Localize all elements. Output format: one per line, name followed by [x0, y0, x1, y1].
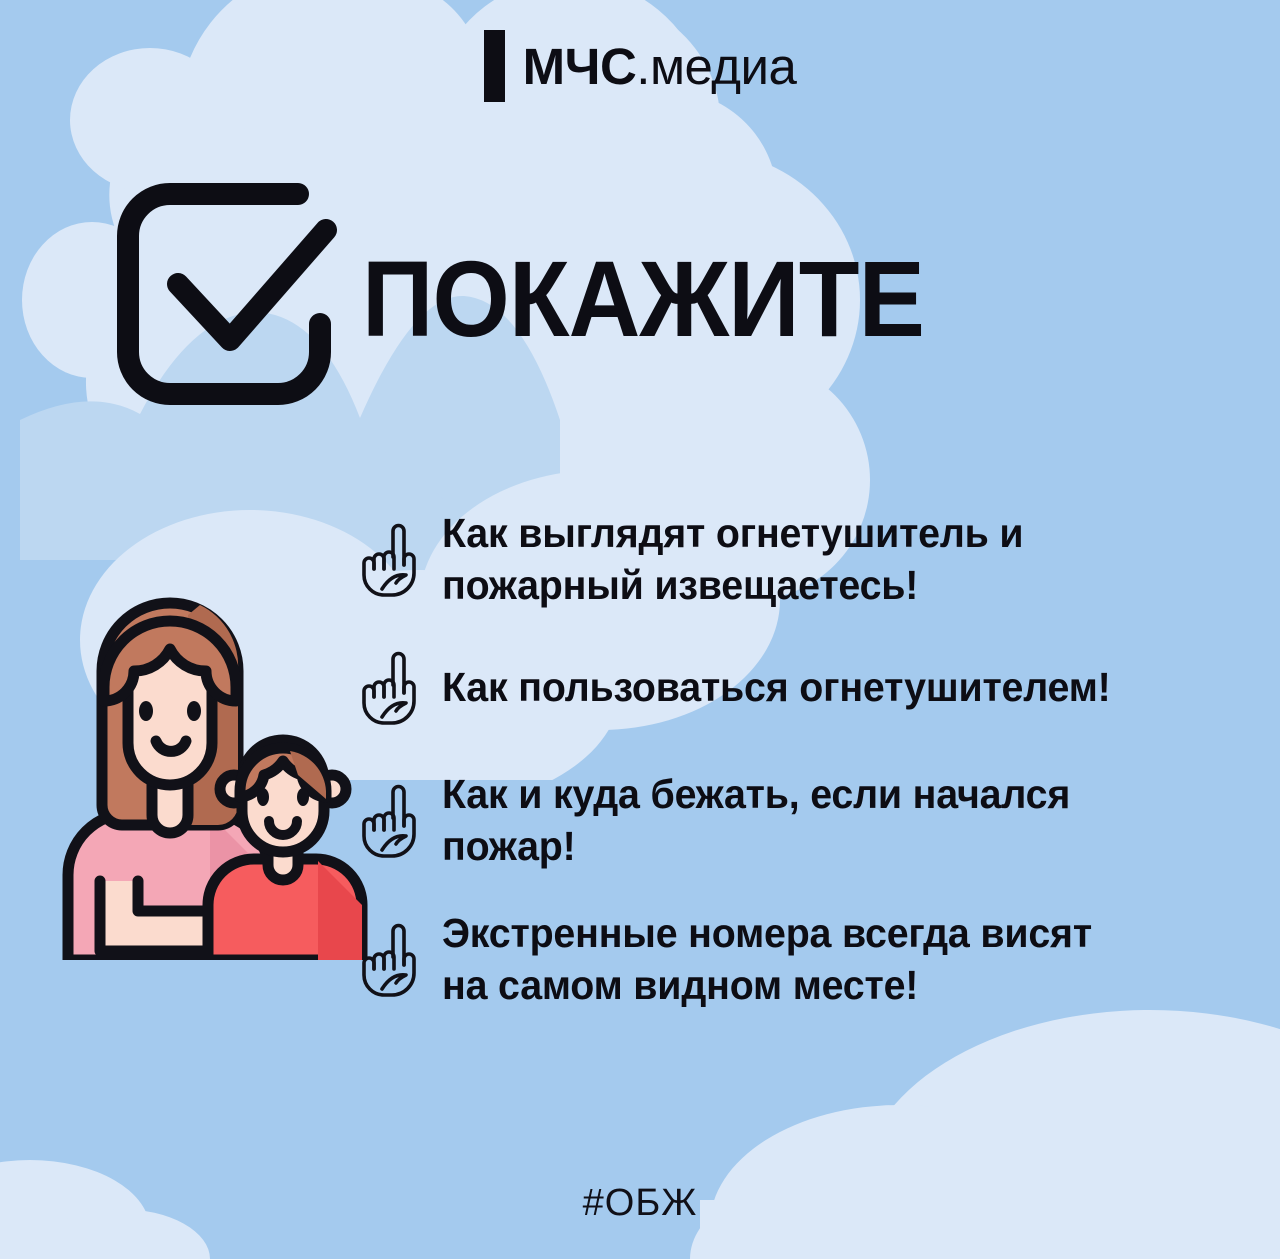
list-item-line: Как пользоваться огнетушителем! — [442, 662, 1111, 714]
logo-text-light: .медиа — [636, 41, 796, 92]
tips-list: Как выглядят огнетушитель и пожарный изв… — [362, 495, 1242, 1029]
pointing-up-hand-icon — [362, 782, 424, 860]
list-item-line: на самом видном месте! — [442, 960, 1092, 1012]
child-eye-right — [297, 788, 309, 806]
page-heading: ПОКАЖИТЕ — [112, 172, 973, 415]
list-item-line: Экстренные номера всегда висят — [442, 908, 1092, 960]
mother-eye-left — [139, 701, 153, 721]
logo-bar-icon — [484, 30, 505, 102]
list-item-text: Экстренные номера всегда висят на самом … — [442, 908, 1092, 1011]
list-item: Как выглядят огнетушитель и пожарный изв… — [362, 495, 1242, 625]
hashtag-label: #ОБЖ — [0, 1182, 1280, 1225]
mother-and-child-illustration — [60, 575, 370, 960]
list-item-line: Как и куда бежать, если начался — [442, 769, 1070, 821]
logo-text-strong: МЧС — [523, 41, 637, 92]
pointing-up-hand-icon — [362, 521, 424, 599]
pointing-up-hand-icon — [362, 921, 424, 999]
list-item: Как пользоваться огнетушителем! — [362, 625, 1242, 751]
list-item-line: Как выглядят огнетушитель и — [442, 508, 1023, 560]
list-item-text: Как и куда бежать, если начался пожар! — [442, 769, 1070, 872]
checkbox-checked-icon — [112, 172, 340, 415]
list-item-text: Как выглядят огнетушитель и пожарный изв… — [442, 508, 1023, 611]
poster-canvas: МЧС.медиа ПОКАЖИТЕ — [0, 0, 1280, 1259]
list-item: Как и куда бежать, если начался пожар! — [362, 751, 1242, 891]
child-eye-left — [257, 788, 269, 806]
mother-eye-right — [187, 701, 201, 721]
list-item-text: Как пользоваться огнетушителем! — [442, 662, 1111, 714]
list-item-line: пожарный извещаетесь! — [442, 560, 1023, 612]
list-item-line: пожар! — [442, 821, 1070, 873]
list-item: Экстренные номера всегда висят на самом … — [362, 891, 1242, 1029]
brand-logo: МЧС.медиа — [0, 30, 1280, 102]
pointing-up-hand-icon — [362, 649, 424, 727]
logo-text: МЧС.медиа — [523, 41, 797, 92]
page-title: ПОКАЖИТЕ — [362, 245, 924, 353]
